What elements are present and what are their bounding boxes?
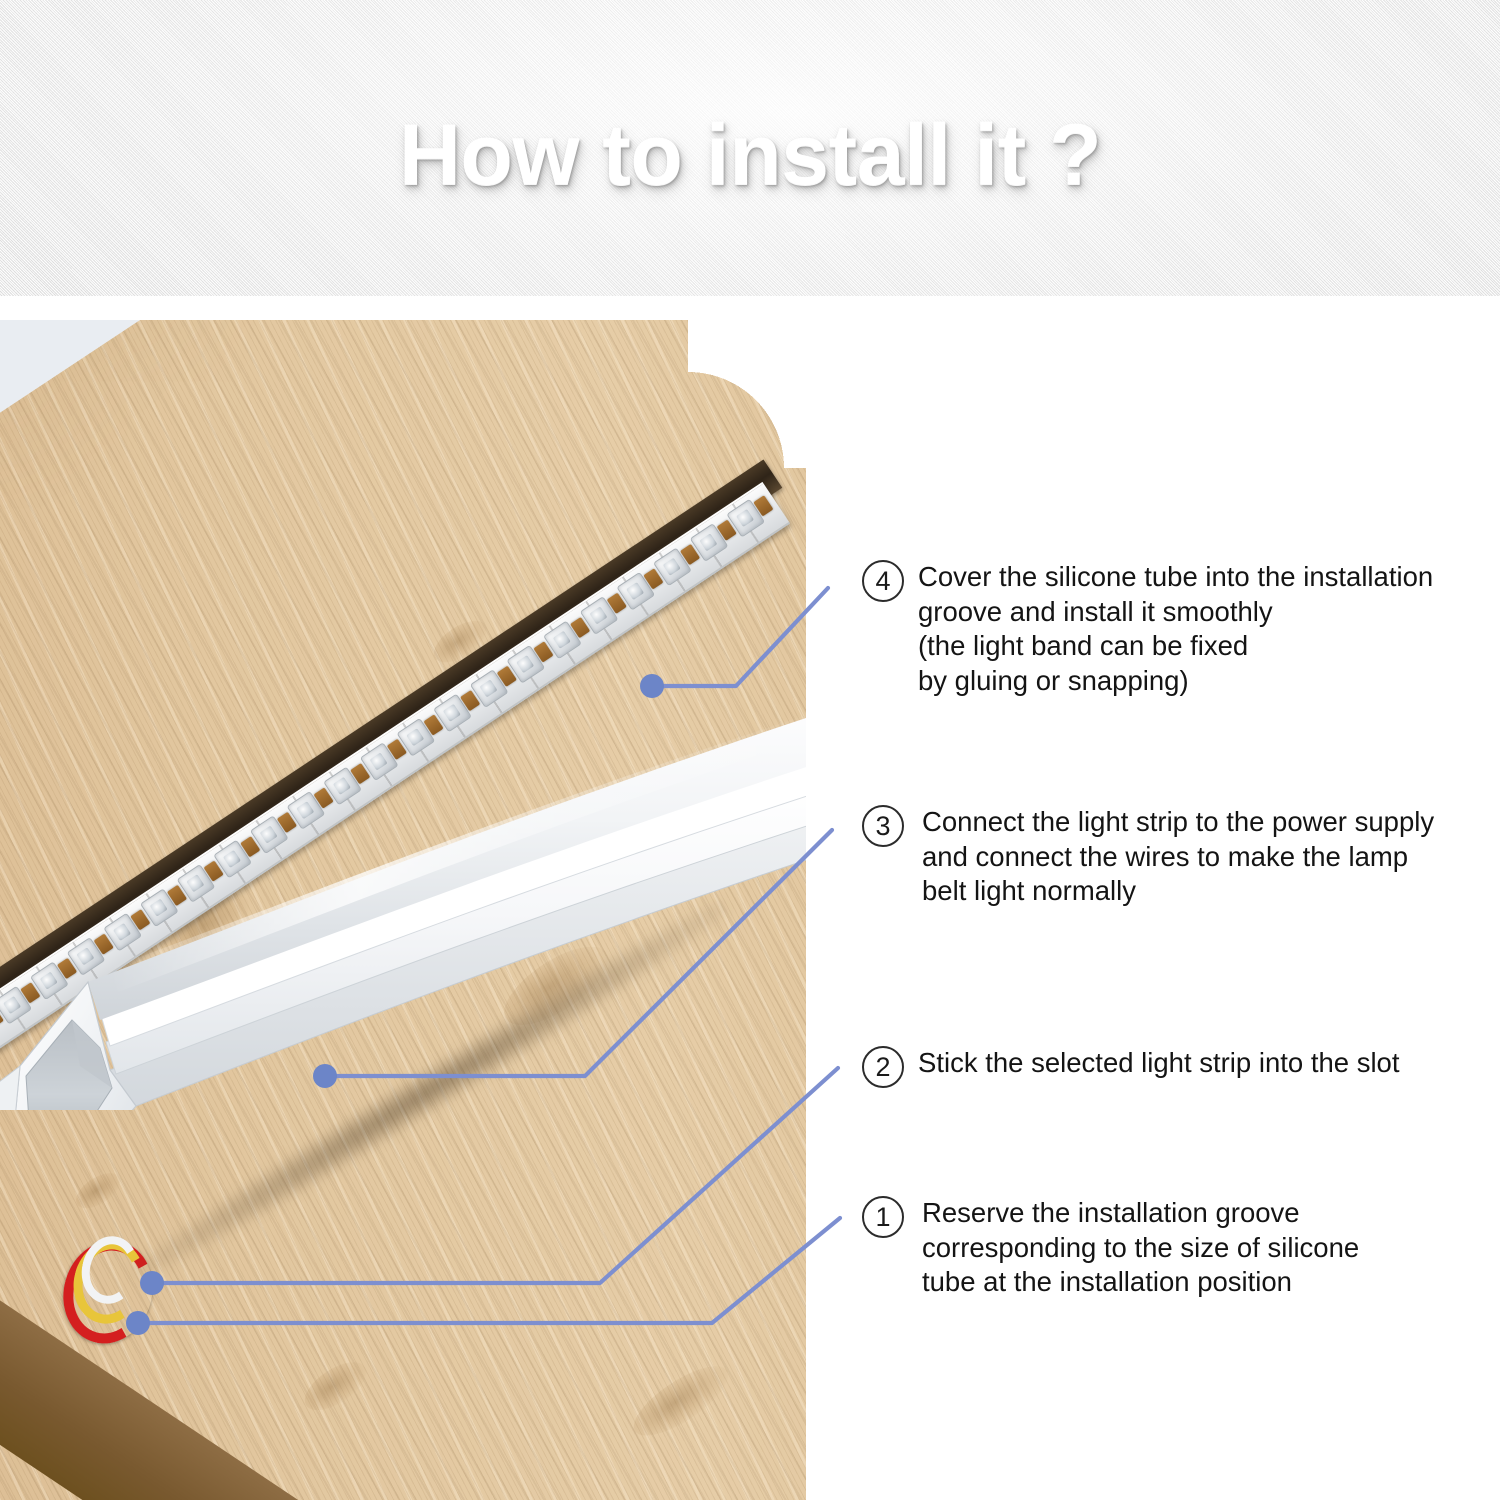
step-item-1: 1 Reserve the installation groove corres…: [862, 1196, 1359, 1300]
step-text-2: Stick the selected light strip into the …: [918, 1046, 1400, 1081]
step-item-4: 4 Cover the silicone tube into the insta…: [862, 560, 1433, 699]
install-guide-page: How to install it ?: [0, 0, 1500, 1500]
step-text-4: Cover the silicone tube into the install…: [918, 560, 1433, 699]
step-item-2: 2 Stick the selected light strip into th…: [862, 1046, 1400, 1088]
step-number-2: 2: [862, 1046, 904, 1088]
step-number-3: 3: [862, 805, 904, 847]
callout-dots: [126, 674, 664, 1335]
leader-line-3: [325, 830, 832, 1076]
callout-dot-3: [313, 1064, 337, 1088]
step-text-1: Reserve the installation groove correspo…: [922, 1196, 1359, 1300]
leader-line-4: [652, 588, 828, 686]
leader-line-2: [152, 1068, 838, 1283]
step-text-3: Connect the light strip to the power sup…: [922, 805, 1434, 909]
callout-dot-4: [640, 674, 664, 698]
leader-line-1: [138, 1218, 840, 1323]
step-item-3: 3 Connect the light strip to the power s…: [862, 805, 1434, 909]
step-number-1: 1: [862, 1196, 904, 1238]
callout-dot-2: [140, 1271, 164, 1295]
step-number-4: 4: [862, 560, 904, 602]
callout-dot-1: [126, 1311, 150, 1335]
